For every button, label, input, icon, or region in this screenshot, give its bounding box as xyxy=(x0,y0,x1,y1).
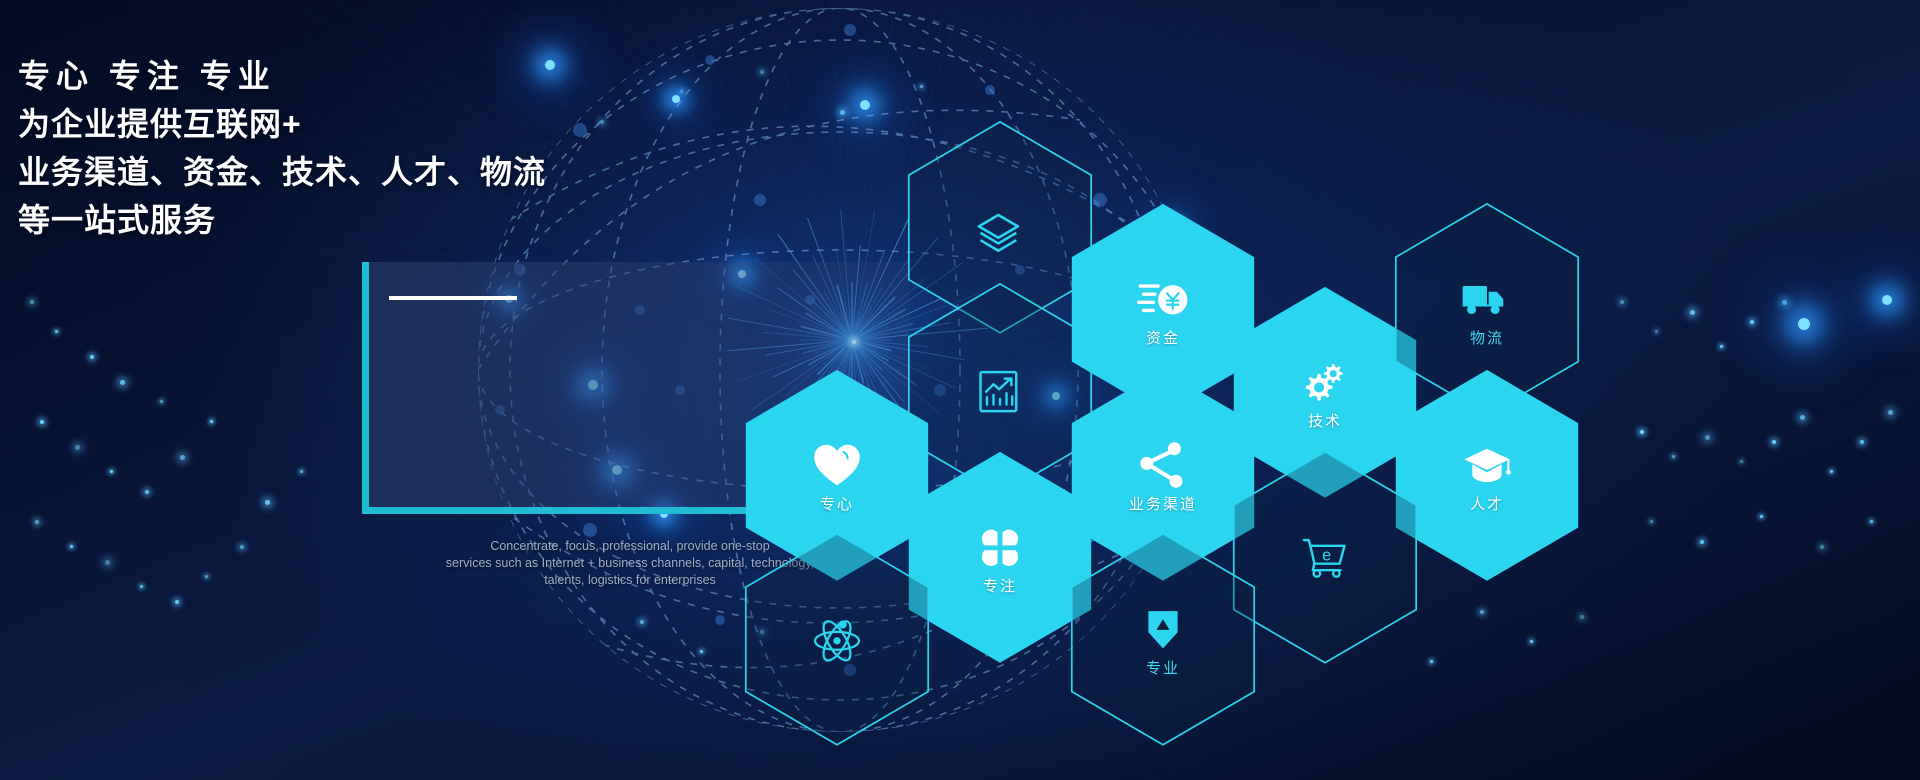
layers-icon xyxy=(974,202,1026,254)
hexagon-cluster: 资金技术物流专心业务渠道人才e专注专业 xyxy=(900,120,1920,780)
clover-icon xyxy=(974,521,1026,573)
star-dot xyxy=(75,445,80,450)
hexagon-label: 技术 xyxy=(1308,414,1342,429)
star-dot xyxy=(175,600,179,604)
hexagon-content: 人才 xyxy=(1461,439,1513,512)
hexagon-label: 专注 xyxy=(983,579,1017,594)
hexagon-talents[interactable]: 人才 xyxy=(1392,368,1582,583)
svg-text:e: e xyxy=(1322,546,1331,564)
star-dot xyxy=(140,585,143,588)
hexagon-ecommerce[interactable]: e xyxy=(1230,450,1420,665)
star-dot xyxy=(110,470,113,473)
heart-icon xyxy=(811,439,863,491)
star-dot xyxy=(180,455,185,460)
hexagon-atom[interactable] xyxy=(742,532,932,747)
growth-chart-icon xyxy=(974,364,1026,416)
headline-line-3: 业务渠道、资金、技术、人才、物流 xyxy=(18,148,578,196)
hexagon-content xyxy=(974,364,1026,416)
hexagon-content xyxy=(974,202,1026,254)
hexagon-content: 技术 xyxy=(1299,356,1351,429)
hexagon-content xyxy=(811,614,863,666)
star-dot xyxy=(55,330,58,333)
hexagon-content: 专业 xyxy=(1137,603,1189,676)
star-dot xyxy=(35,520,39,524)
hexagon-content: 资金 xyxy=(1137,273,1189,346)
headline-line-1: 专心 专注 专业 xyxy=(18,52,578,100)
shopping-cart-e-icon: e xyxy=(1299,532,1351,584)
star-dot xyxy=(90,355,94,359)
hexagon-label: 专心 xyxy=(820,497,854,512)
hexagon-label: 资金 xyxy=(1146,331,1180,346)
hexagon-label: 业务渠道 xyxy=(1129,497,1197,512)
star-dot xyxy=(160,400,163,403)
hexagon-content: 专心 xyxy=(811,439,863,512)
star-dot xyxy=(240,545,244,549)
atom-icon xyxy=(811,614,863,666)
hexagon-dedicate[interactable]: 专注 xyxy=(905,450,1095,665)
yen-coin-icon xyxy=(1137,273,1189,325)
hexagon-content: e xyxy=(1299,532,1351,584)
star-dot xyxy=(210,420,213,423)
hero-banner: 专心 专注 专业 为企业提供互联网+ 业务渠道、资金、技术、人才、物流 等一站式… xyxy=(0,0,1920,780)
hexagon-content: 专注 xyxy=(974,521,1026,594)
hexagon-label: 人才 xyxy=(1470,497,1504,512)
hexagon-content: 业务渠道 xyxy=(1129,439,1197,512)
headline-line-4: 等一站式服务 xyxy=(18,196,578,244)
share-nodes-icon xyxy=(1137,439,1189,491)
star-dot xyxy=(40,420,44,424)
gem-icon xyxy=(1137,603,1189,655)
star-dot xyxy=(145,490,149,494)
hexagon-label: 专业 xyxy=(1146,661,1180,676)
graduation-cap-icon xyxy=(1461,439,1513,491)
hexagon-label: 物流 xyxy=(1470,331,1504,346)
hexagon-pro[interactable]: 专业 xyxy=(1068,532,1258,747)
star-dot xyxy=(70,545,73,548)
headline-line-2: 为企业提供互联网+ xyxy=(18,100,578,148)
star-dot xyxy=(120,380,125,385)
page-title: 专心 专注 专业 为企业提供互联网+ 业务渠道、资金、技术、人才、物流 等一站式… xyxy=(18,52,578,244)
star-dot xyxy=(205,575,208,578)
star-dot xyxy=(105,560,110,565)
truck-icon xyxy=(1461,273,1513,325)
gears-icon xyxy=(1299,356,1351,408)
star-dot xyxy=(265,500,270,505)
title-rule xyxy=(389,296,517,300)
star-dot xyxy=(30,300,34,304)
hexagon-content: 物流 xyxy=(1461,273,1513,346)
